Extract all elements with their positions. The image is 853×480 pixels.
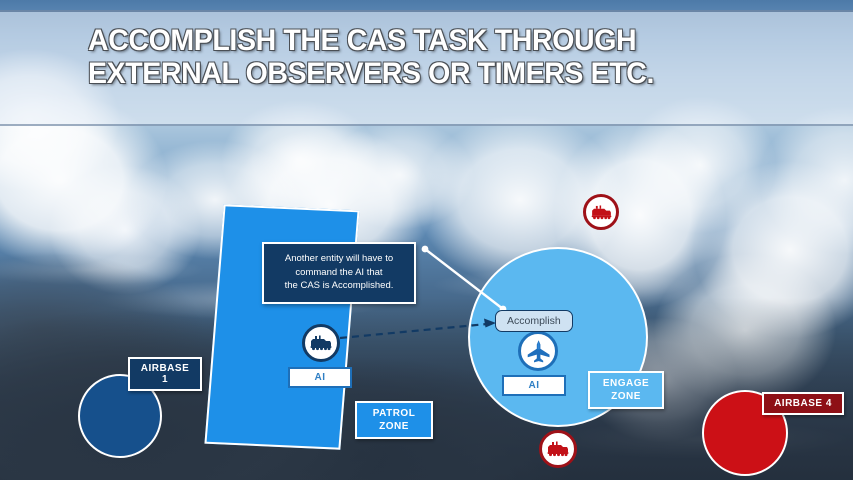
enemy-unit-south-icon[interactable] xyxy=(539,430,577,468)
airbase-4-label: AIRBASE 4 xyxy=(762,392,844,415)
ground-ai-unit-label: AI xyxy=(288,367,352,388)
tank-icon xyxy=(546,441,570,457)
airbase-1-label: AIRBASE 1 xyxy=(128,357,202,391)
enemy-unit-north-icon[interactable] xyxy=(583,194,619,230)
tank-icon xyxy=(590,205,613,220)
patrol-zone-label: PATROL ZONE xyxy=(355,401,433,439)
accomplish-chip[interactable]: Accomplish xyxy=(495,310,573,332)
slide-canvas: ACCOMPLISH THE CAS TASK THROUGH EXTERNAL… xyxy=(0,0,853,480)
air-ai-unit-label: AI xyxy=(502,375,566,396)
air-ai-unit-icon[interactable] xyxy=(518,331,558,371)
ground-ai-unit-icon[interactable] xyxy=(302,324,340,362)
engage-zone-label: ENGAGE ZONE xyxy=(588,371,664,409)
page-title: ACCOMPLISH THE CAS TASK THROUGH EXTERNAL… xyxy=(88,24,753,90)
callout-note: Another entity will have to command the … xyxy=(262,242,416,304)
tank-icon xyxy=(309,335,333,351)
jet-icon xyxy=(525,339,552,364)
